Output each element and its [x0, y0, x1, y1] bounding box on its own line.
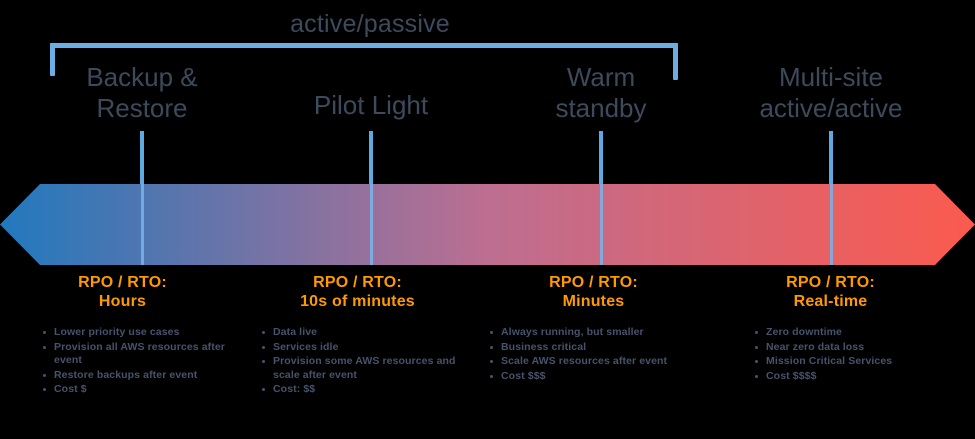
connector-line-warm-standby: [599, 131, 603, 189]
band-tick-pilot-light: [370, 184, 373, 265]
strategy-heading-warm-standby: Warm standby: [501, 62, 701, 124]
detail-column-multi-site: RPO / RTO: Real-time Zero downtimeNear z…: [713, 273, 948, 384]
bullet-list: Zero downtimeNear zero data lossMission …: [713, 326, 948, 383]
bullet-item: Always running, but smaller: [490, 326, 711, 340]
connector-line-backup-restore: [140, 131, 144, 189]
bullet-item: Mission Critical Services: [755, 355, 948, 369]
band-tick-backup-restore: [141, 184, 144, 265]
bullet-item: Business critical: [490, 341, 711, 355]
bullet-item: Data live: [262, 326, 475, 340]
rpo-rto-label: RPO / RTO: Minutes: [476, 273, 711, 311]
band-tick-multi-site: [830, 184, 833, 265]
bullet-item: Restore backups after event: [43, 369, 240, 383]
detail-column-backup-restore: RPO / RTO: Hours Lower priority use case…: [5, 273, 240, 398]
bullet-item: Lower priority use cases: [43, 326, 240, 340]
bullet-item: Cost: $$: [262, 383, 475, 397]
bracket-label: active/passive: [270, 10, 470, 39]
bullet-item: Provision all AWS resources after event: [43, 341, 240, 368]
bullet-list: Lower priority use casesProvision all AW…: [5, 326, 240, 397]
detail-column-warm-standby: RPO / RTO: Minutes Always running, but s…: [476, 273, 711, 384]
bullet-list: Data liveServices idleProvision some AWS…: [240, 326, 475, 397]
connector-line-multi-site: [829, 131, 833, 189]
bracket-horizontal-line: [50, 43, 678, 48]
bullet-item: Scale AWS resources after event: [490, 355, 711, 369]
detail-column-pilot-light: RPO / RTO: 10s of minutes Data liveServi…: [240, 273, 475, 398]
gradient-spectrum-arrow: [0, 184, 975, 265]
bullet-item: Cost $$$: [490, 370, 711, 384]
band-tick-warm-standby: [600, 184, 603, 265]
rpo-rto-label: RPO / RTO: Real-time: [713, 273, 948, 311]
bullet-item: Cost $$$$: [755, 370, 948, 384]
strategy-heading-multi-site: Multi-site active/active: [731, 62, 931, 124]
spectrum-diagram: active/passive Backup & Restore Pilot Li…: [0, 0, 975, 439]
rpo-rto-label: RPO / RTO: 10s of minutes: [240, 273, 475, 311]
bullet-item: Services idle: [262, 341, 475, 355]
bullet-item: Zero downtime: [755, 326, 948, 340]
bullet-item: Near zero data loss: [755, 341, 948, 355]
bullet-item: Cost $: [43, 383, 240, 397]
bullet-list: Always running, but smallerBusiness crit…: [476, 326, 711, 383]
strategy-heading-backup-restore: Backup & Restore: [42, 62, 242, 124]
bullet-item: Provision some AWS resources and scale a…: [262, 355, 475, 382]
rpo-rto-label: RPO / RTO: Hours: [5, 273, 240, 311]
connector-line-pilot-light: [369, 131, 373, 189]
strategy-heading-pilot-light: Pilot Light: [271, 90, 471, 121]
